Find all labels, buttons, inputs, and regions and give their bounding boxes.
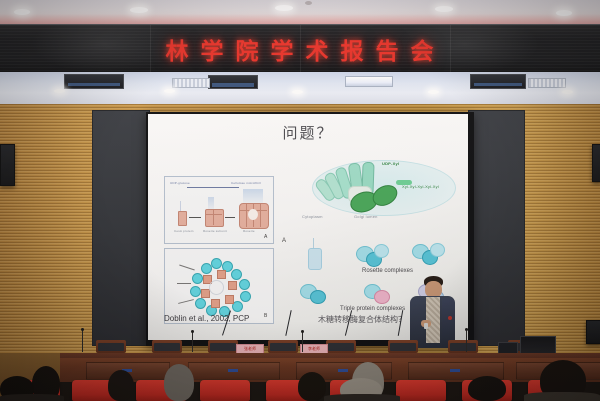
air-conditioner-unit	[470, 74, 526, 89]
audience-chair	[396, 380, 446, 401]
figure-a-label-rosette: Rosette	[243, 229, 255, 233]
lit-ceiling-soffit	[0, 72, 600, 104]
table-emblem	[338, 369, 348, 372]
slide-question-caption: 木糖转移酶复合体结构？	[318, 314, 406, 325]
slide-title: 问题？	[148, 122, 468, 143]
ceiling-troffer-light	[345, 76, 393, 87]
air-conditioner-unit	[208, 75, 258, 89]
banner-char: 会	[411, 32, 435, 66]
smoke-detector	[305, 1, 312, 5]
complex-panel-marker: A	[282, 238, 286, 244]
presenter	[404, 276, 460, 348]
figure-a-marker: A	[264, 234, 268, 240]
ceiling-air-vent	[172, 78, 210, 88]
executive-chair	[388, 340, 418, 353]
led-banner: 林 学 院 学 术 报 告 会	[0, 24, 600, 74]
banner-char: 院	[236, 32, 260, 66]
audience-shoulder	[524, 392, 600, 401]
executive-chair	[448, 340, 478, 353]
placard-text: 张老师	[237, 345, 263, 352]
lecture-hall-photo: 林 学 院 学 术 报 告 会 问题？	[0, 0, 600, 401]
banner-char: 学	[271, 32, 295, 66]
executive-chair	[152, 340, 182, 353]
figure-a-label-subunit: Rosette subunit	[203, 229, 227, 233]
figure-a-header-left: UDP-glucose	[170, 181, 190, 185]
soffit-downlight	[164, 89, 175, 93]
air-conditioner-unit	[64, 74, 124, 89]
ceiling-air-vent	[528, 78, 566, 88]
table-emblem	[228, 369, 238, 372]
figure-a-header-right: Cellulose microfibril	[231, 181, 261, 185]
executive-chair	[268, 340, 298, 353]
table-microphone	[466, 330, 467, 352]
soffit-downlight	[292, 90, 303, 94]
audience-head	[164, 364, 194, 401]
acoustic-panel-right	[468, 110, 525, 346]
executive-chair	[96, 340, 126, 353]
led-banner-text: 林 学 院 学 术 报 告 会	[0, 25, 600, 73]
audience-head	[298, 372, 326, 401]
executive-chair	[208, 340, 238, 353]
table-microphone	[192, 332, 193, 352]
ceiling-downlight	[556, 10, 572, 16]
soffit-downlight	[562, 90, 573, 94]
placard-text: 李老师	[301, 345, 327, 352]
cytoplasm-label: Cytoplasm	[302, 214, 323, 219]
wall-speaker-right-small	[586, 320, 600, 344]
soffit-downlight	[428, 90, 439, 94]
table-microphone	[302, 332, 303, 352]
table-microphone	[82, 330, 83, 352]
soffit-downlight	[54, 89, 65, 93]
banner-char: 术	[306, 32, 330, 66]
ceiling-downlight	[435, 6, 453, 12]
slide-figure-b: B	[164, 248, 274, 324]
acoustic-panel-left	[92, 110, 150, 346]
audience-shoulder	[0, 394, 64, 401]
banner-char: 告	[376, 32, 400, 66]
ceiling-downlight	[14, 9, 30, 15]
golgi-lumen-label: Golgi lumen	[354, 214, 378, 219]
udp-xyl-label: UDP-Xyl	[382, 161, 399, 166]
banner-char: 林	[166, 32, 190, 66]
audience-chair	[200, 380, 250, 401]
executive-chair	[326, 340, 356, 353]
audience-head	[468, 376, 506, 401]
figure-a-label-cesa: CesA protein	[174, 229, 194, 233]
ceiling	[0, 0, 600, 26]
slide-citation: Doblin et al., 2002, PCP	[164, 314, 249, 323]
table-emblem	[450, 369, 460, 372]
ceiling-downlight	[275, 5, 293, 11]
slide-figure-a: UDP-glucose Cellulose microfibril	[164, 176, 274, 244]
slide-golgi-diagram: UDP-Xyl Xyl-Xyl-Xyl-Xyl-Xyl Cytoplasm Go…	[298, 156, 462, 228]
audience-shoulder	[324, 394, 400, 401]
banner-char: 报	[341, 32, 365, 66]
wall-speaker-left	[0, 144, 15, 186]
presenter-clicker	[424, 323, 428, 329]
ceiling-downlight	[130, 7, 148, 13]
figure-b-marker: B	[264, 313, 268, 319]
audience-head	[108, 370, 134, 401]
wall-speaker-right	[592, 144, 600, 182]
rosette-complexes-label: Rosette complexes	[362, 268, 413, 274]
banner-char: 学	[201, 32, 225, 66]
